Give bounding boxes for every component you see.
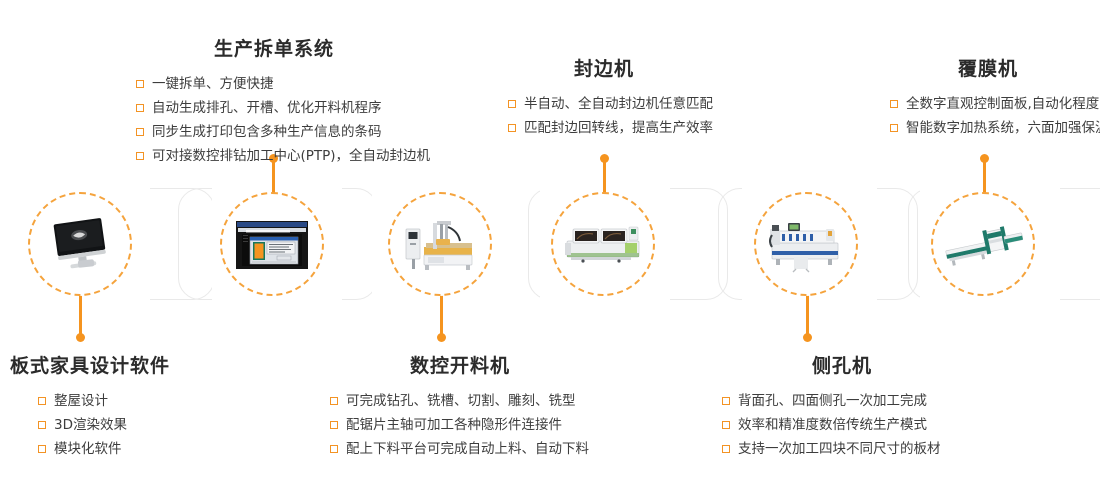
list-item-label: 可对接数控排钻加工中心(PTP)，全自动封边机 — [152, 144, 430, 168]
block-order-splitting-system: 生产拆单系统 一键拆单、方便快捷 自动生成排孔、开槽、优化开料机程序 同步生成打… — [136, 38, 430, 168]
square-bullet-icon — [38, 421, 46, 429]
list-item-label: 3D渲染效果 — [54, 413, 127, 437]
list-item-label: 自动生成排孔、开槽、优化开料机程序 — [152, 96, 382, 120]
square-bullet-icon — [508, 100, 516, 108]
cnc-router-icon — [400, 213, 480, 275]
bullet-list: 可完成钻孔、铣槽、切割、雕刻、铣型 配锯片主轴可加工各种隐形件连接件 配上下料平… — [330, 389, 590, 461]
list-item: 全数字直观控制面板,自动化程度高 — [890, 92, 1100, 116]
edge-bander-icon — [563, 213, 643, 275]
list-item-label: 智能数字加热系统，六面加强保温 — [906, 116, 1100, 140]
list-item-label: 可完成钻孔、铣槽、切割、雕刻、铣型 — [346, 389, 576, 413]
stem-dot-up-edge-bander — [600, 154, 609, 163]
square-bullet-icon — [136, 152, 144, 160]
list-item-label: 同步生成打印包含多种生产信息的条码 — [152, 120, 382, 144]
list-item: 半自动、全自动封边机任意匹配 — [508, 92, 713, 116]
block-side-hole-machine: 侧孔机 背面孔、四面侧孔一次加工完成 效率和精准度数倍传统生产模式 支持一次加工… — [722, 355, 962, 461]
square-bullet-icon — [722, 421, 730, 429]
node-laminator[interactable] — [931, 192, 1035, 296]
list-item: 效率和精准度数倍传统生产模式 — [722, 413, 962, 437]
list-item: 可完成钻孔、铣槽、切割、雕刻、铣型 — [330, 389, 590, 413]
bullet-list: 整屋设计 3D渲染效果 模块化软件 — [38, 389, 170, 461]
square-bullet-icon — [330, 421, 338, 429]
node-software-screen[interactable] — [220, 192, 324, 296]
square-bullet-icon — [330, 397, 338, 405]
list-item: 配锯片主轴可加工各种隐形件连接件 — [330, 413, 590, 437]
square-bullet-icon — [890, 124, 898, 132]
node-edge-bander[interactable] — [551, 192, 655, 296]
stem-dot-down-side-driller — [803, 333, 812, 342]
side-driller-icon — [766, 213, 846, 275]
square-bullet-icon — [722, 397, 730, 405]
bullet-list: 半自动、全自动封边机任意匹配 匹配封边回转线，提高生产效率 — [508, 92, 713, 140]
stem-dot-down-cnc-router — [437, 333, 446, 342]
square-bullet-icon — [136, 80, 144, 88]
block-title: 板式家具设计软件 — [10, 355, 170, 378]
square-bullet-icon — [722, 445, 730, 453]
list-item: 可对接数控排钻加工中心(PTP)，全自动封边机 — [136, 144, 430, 168]
node-side-driller[interactable] — [754, 192, 858, 296]
list-item-label: 全数字直观控制面板,自动化程度高 — [906, 92, 1100, 116]
block-laminating-machine: 覆膜机 全数字直观控制面板,自动化程度高 智能数字加热系统，六面加强保温 — [890, 58, 1100, 140]
square-bullet-icon — [508, 124, 516, 132]
list-item: 支持一次加工四块不同尺寸的板材 — [722, 437, 962, 461]
list-item: 整屋设计 — [38, 389, 170, 413]
block-title: 数控开料机 — [330, 355, 590, 378]
list-item-label: 配锯片主轴可加工各种隐形件连接件 — [346, 413, 562, 437]
list-item: 3D渲染效果 — [38, 413, 170, 437]
square-bullet-icon — [136, 104, 144, 112]
list-item: 自动生成排孔、开槽、优化开料机程序 — [136, 96, 430, 120]
infographic-canvas: 生产拆单系统 一键拆单、方便快捷 自动生成排孔、开槽、优化开料机程序 同步生成打… — [0, 0, 1100, 495]
list-item: 同步生成打印包含多种生产信息的条码 — [136, 120, 430, 144]
block-cnc-cutting-machine: 数控开料机 可完成钻孔、铣槽、切割、雕刻、铣型 配锯片主轴可加工各种隐形件连接件… — [330, 355, 590, 461]
laminator-icon — [943, 213, 1023, 275]
list-item: 匹配封边回转线，提高生产效率 — [508, 116, 713, 140]
list-item-label: 模块化软件 — [54, 437, 122, 461]
block-design-software: 板式家具设计软件 整屋设计 3D渲染效果 模块化软件 — [10, 355, 170, 461]
square-bullet-icon — [890, 100, 898, 108]
list-item-label: 整屋设计 — [54, 389, 108, 413]
list-item: 智能数字加热系统，六面加强保温 — [890, 116, 1100, 140]
list-item-label: 支持一次加工四块不同尺寸的板材 — [738, 437, 941, 461]
list-item: 一键拆单、方便快捷 — [136, 72, 430, 96]
node-imac[interactable] — [28, 192, 132, 296]
list-item-label: 一键拆单、方便快捷 — [152, 72, 274, 96]
square-bullet-icon — [38, 397, 46, 405]
block-title: 封边机 — [508, 58, 700, 81]
block-title: 覆膜机 — [890, 58, 1086, 81]
block-title: 侧孔机 — [722, 355, 962, 378]
stem-dot-up-laminator — [980, 154, 989, 163]
list-item-label: 半自动、全自动封边机任意匹配 — [524, 92, 713, 116]
bullet-list: 一键拆单、方便快捷 自动生成排孔、开槽、优化开料机程序 同步生成打印包含多种生产… — [136, 72, 430, 168]
list-item-label: 背面孔、四面侧孔一次加工完成 — [738, 389, 927, 413]
software-window-icon — [232, 213, 312, 275]
list-item: 模块化软件 — [38, 437, 170, 461]
list-item-label: 配上下料平台可完成自动上料、自动下料 — [346, 437, 589, 461]
block-edge-banding-machine: 封边机 半自动、全自动封边机任意匹配 匹配封边回转线，提高生产效率 — [508, 58, 713, 140]
square-bullet-icon — [330, 445, 338, 453]
list-item: 背面孔、四面侧孔一次加工完成 — [722, 389, 962, 413]
list-item-label: 匹配封边回转线，提高生产效率 — [524, 116, 713, 140]
list-item-label: 效率和精准度数倍传统生产模式 — [738, 413, 927, 437]
node-cnc-router[interactable] — [388, 192, 492, 296]
square-bullet-icon — [38, 445, 46, 453]
bullet-list: 全数字直观控制面板,自动化程度高 智能数字加热系统，六面加强保温 — [890, 92, 1100, 140]
block-title: 生产拆单系统 — [136, 38, 412, 61]
square-bullet-icon — [136, 128, 144, 136]
imac-monitor-icon — [40, 213, 120, 275]
stem-dot-down-design-software — [76, 333, 85, 342]
bullet-list: 背面孔、四面侧孔一次加工完成 效率和精准度数倍传统生产模式 支持一次加工四块不同… — [722, 389, 962, 461]
list-item: 配上下料平台可完成自动上料、自动下料 — [330, 437, 590, 461]
